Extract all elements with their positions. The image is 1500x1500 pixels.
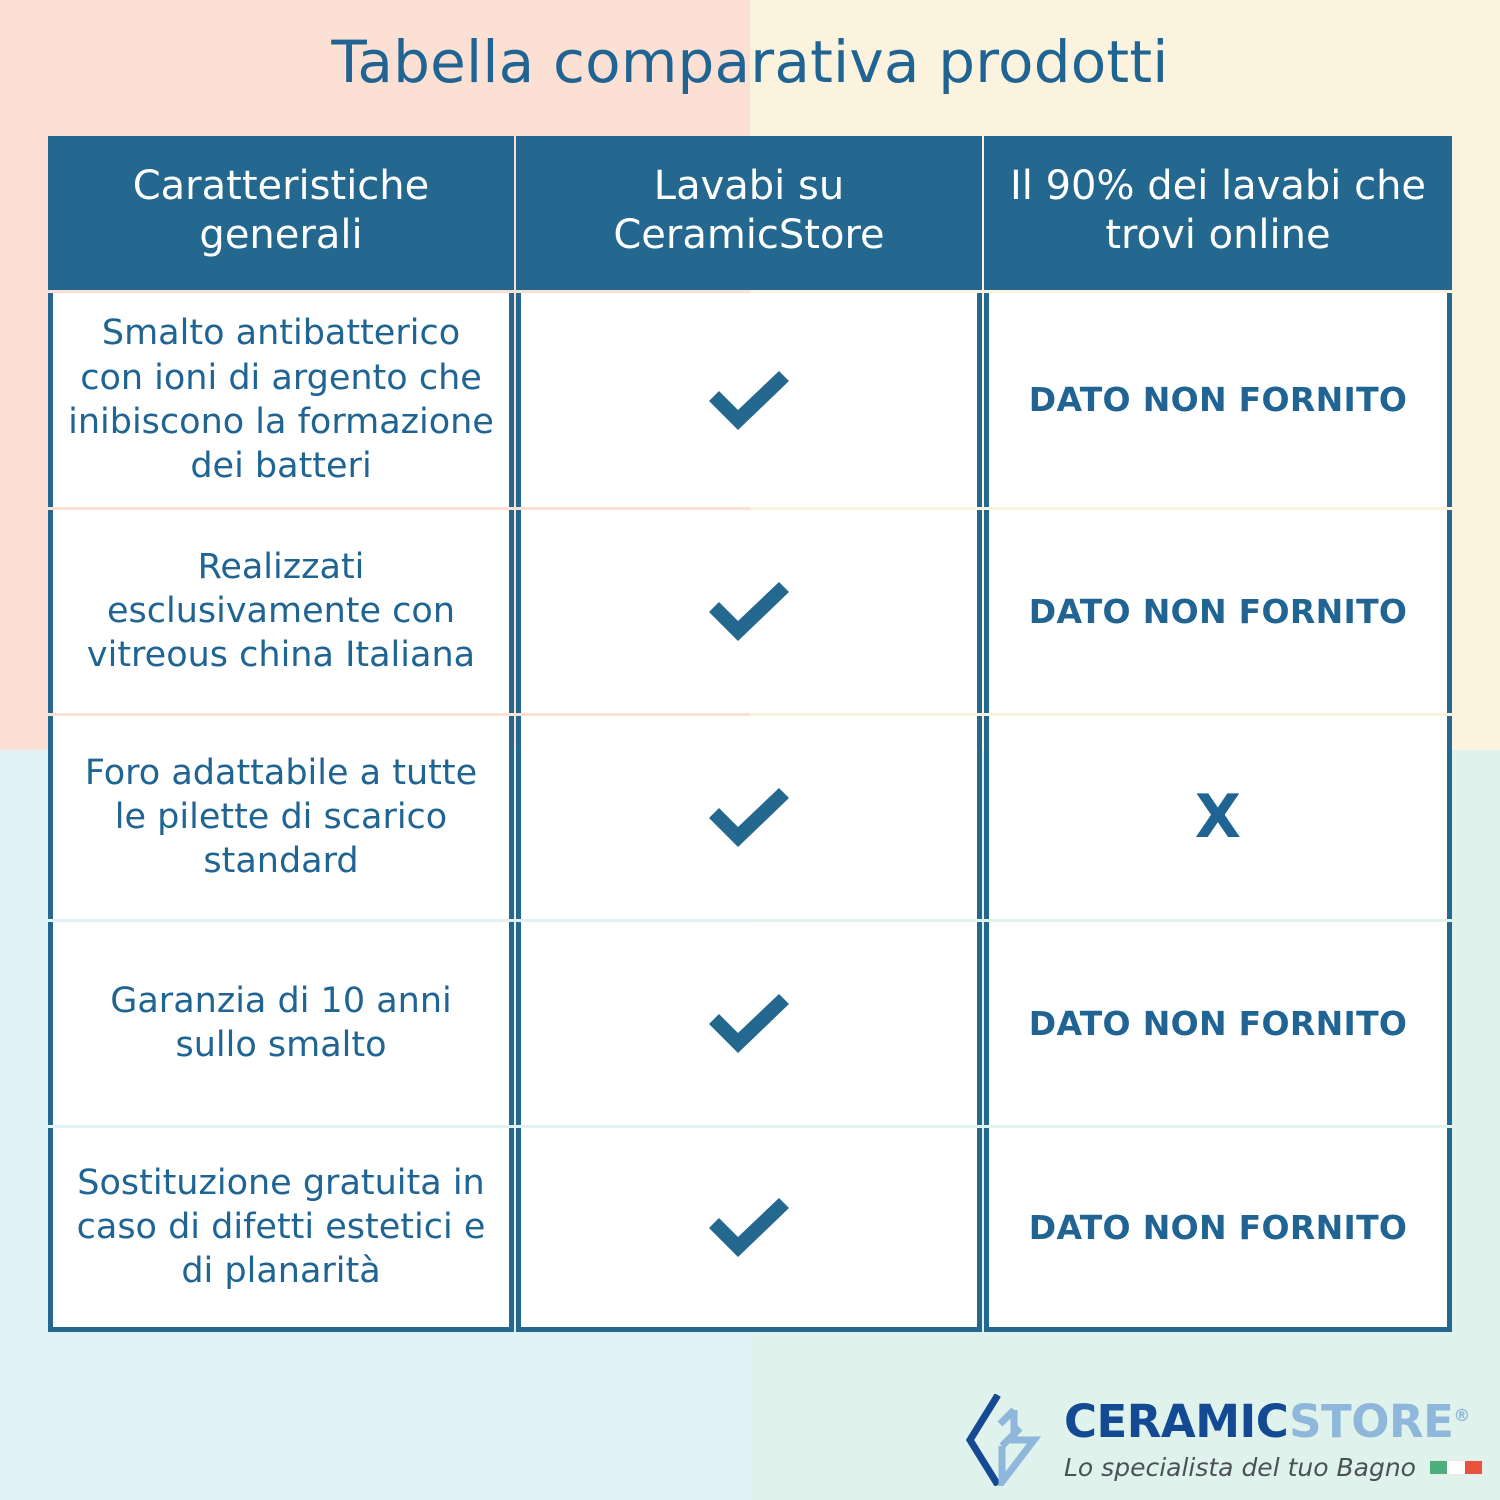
comparison-table: Caratteristiche generali Lavabi su Ceram…	[48, 136, 1452, 1332]
logo-tagline-row: Lo specialista del tuo Bagno	[1064, 1453, 1483, 1482]
competitor-cell: DATO NON FORNITO	[984, 293, 1452, 507]
italian-flag-icon	[1429, 1460, 1483, 1475]
check-icon	[703, 368, 795, 432]
competitor-cell: DATO NON FORNITO	[984, 510, 1452, 713]
feature-cell: Foro adattabile a tutte le pilette di sc…	[48, 716, 514, 919]
feature-cell: Realizzati esclusivamente con vitreous c…	[48, 510, 514, 713]
ceramicstore-cell	[516, 510, 982, 713]
column-header-competitor: Il 90% dei lavabi che trovi online	[984, 136, 1452, 290]
page-title: Tabella comparativa prodotti	[0, 28, 1500, 96]
logo-tagline: Lo specialista del tuo Bagno	[1064, 1453, 1416, 1482]
logo-word-primary: CERAMIC	[1064, 1395, 1289, 1448]
column-header-ceramicstore: Lavabi su CeramicStore	[516, 136, 982, 290]
logo-text-block: CERAMICSTORE® Lo specialista del tuo Bag…	[1064, 1399, 1483, 1482]
table-row: Smalto antibatterico con ioni di argento…	[48, 293, 1452, 507]
ceramicstore-cell	[516, 293, 982, 507]
check-icon	[703, 991, 795, 1055]
feature-cell: Garanzia di 10 anni sullo smalto	[48, 922, 514, 1125]
ceramicstore-logo: CERAMICSTORE® Lo specialista del tuo Bag…	[962, 1392, 1432, 1488]
x-mark-icon: X	[1195, 787, 1242, 847]
ceramicstore-cell	[516, 922, 982, 1125]
table-row: Sostituzione gratuita in caso di difetti…	[48, 1128, 1452, 1332]
competitor-cell: DATO NON FORNITO	[984, 1128, 1452, 1332]
column-header-features: Caratteristiche generali	[48, 136, 514, 290]
competitor-cell: DATO NON FORNITO	[984, 922, 1452, 1125]
check-icon	[703, 579, 795, 643]
table-row: Realizzati esclusivamente con vitreous c…	[48, 510, 1452, 713]
ceramicstore-logo-icon	[962, 1394, 1054, 1486]
ceramicstore-cell	[516, 716, 982, 919]
check-icon	[703, 785, 795, 849]
feature-cell: Sostituzione gratuita in caso di difetti…	[48, 1128, 514, 1332]
competitor-cell: X	[984, 716, 1452, 919]
logo-wordmark: CERAMICSTORE®	[1064, 1399, 1483, 1444]
table-header-row: Caratteristiche generali Lavabi su Ceram…	[48, 136, 1452, 290]
ceramicstore-cell	[516, 1128, 982, 1332]
check-icon	[703, 1195, 795, 1259]
infographic-page: Tabella comparativa prodotti Caratterist…	[0, 0, 1500, 1500]
table-row: Garanzia di 10 anni sullo smalto DATO NO…	[48, 922, 1452, 1125]
registered-trademark-icon: ®	[1453, 1406, 1470, 1426]
table-row: Foro adattabile a tutte le pilette di sc…	[48, 716, 1452, 919]
logo-word-secondary: STORE	[1289, 1395, 1453, 1448]
feature-cell: Smalto antibatterico con ioni di argento…	[48, 293, 514, 507]
